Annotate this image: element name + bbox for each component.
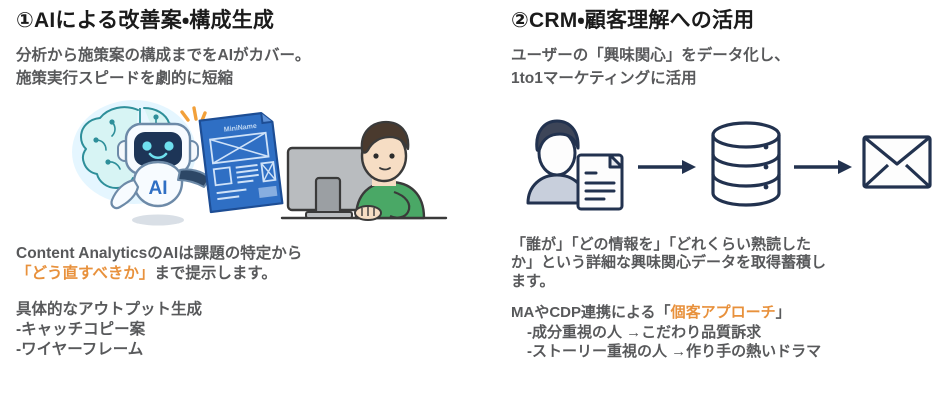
robot-shadow	[132, 215, 184, 226]
left-body-main-line-2: 「どう直すべきか」まで提示します。	[16, 264, 463, 284]
right-body-list-line-1: MAやCDP連携による「個客アプローチ」	[511, 303, 940, 323]
list-item: -成分重視の人 →こだわり品質訴求	[511, 323, 940, 343]
left-body-main-line-1: Content AnalyticsのAIは課題の特定から	[16, 244, 463, 264]
left-body-highlight: 「どう直すべきか」	[16, 265, 154, 282]
right-body-list-line-1-post: 」	[776, 304, 791, 321]
left-body-main-line-2-rest: まで提示します。	[154, 265, 276, 282]
column-right: ②CRM・顧客理解への活用 ユーザーの「興味関心」をデータ化し、 1to1マーケ…	[475, 0, 950, 416]
person-at-computer-icon	[282, 122, 446, 220]
robot-ai-label: AI	[149, 178, 168, 199]
person-document-icon	[528, 121, 622, 209]
right-body-highlight: 個客アプローチ	[671, 304, 776, 321]
arrow-right-icon	[638, 160, 696, 174]
column-left: ①AIによる改善案・構成生成 分析から施策案の構成までをAIがカバー。 施策実行…	[0, 0, 475, 416]
list-item: 具体的なアウトプット生成	[16, 300, 463, 320]
left-lead-paragraph: 分析から施策案の構成までをAIがカバー。 施策実行スピードを劇的に短縮	[16, 33, 463, 90]
wireframe-document-icon: MiniName	[200, 112, 283, 212]
list-item: -ワイヤーフレーム	[16, 340, 463, 360]
right-flow-diagram	[501, 112, 940, 222]
right-body-main: 「誰が」「どの情報を」「どれくらい熟読した か」という詳細な興味関心データを取得…	[501, 222, 940, 291]
left-lead-line-1: 分析から施策案の構成までをAIがカバー。	[16, 45, 463, 67]
right-body-main-line-1: 「誰が」「どの情報を」「どれくらい熟読した	[511, 236, 940, 254]
right-lead-paragraph: ユーザーの「興味関心」をデータ化し、 1to1マーケティングに活用	[501, 33, 940, 90]
database-icon	[713, 123, 779, 205]
envelope-icon	[864, 137, 930, 187]
slide-root: ①AIによる改善案・構成生成 分析から施策案の構成までをAIがカバー。 施策実行…	[0, 0, 950, 416]
right-lead-line-2: 1to1マーケティングに活用	[511, 68, 940, 90]
left-lead-line-2: 施策実行スピードを劇的に短縮	[16, 68, 463, 90]
right-body-main-line-2: か」という詳細な興味関心データを取得蓄積し	[511, 254, 940, 272]
right-lead-line-1: ユーザーの「興味関心」をデータ化し、	[511, 45, 940, 67]
right-body-list-line-1-pre: MAやCDP連携による「	[511, 304, 671, 321]
left-body-main: Content AnalyticsのAIは課題の特定から 「どう直すべきか」まで…	[16, 232, 463, 284]
right-body-list: MAやCDP連携による「個客アプローチ」 -成分重視の人 →こだわり品質訴求 -…	[501, 291, 940, 362]
left-heading: ①AIによる改善案・構成生成	[16, 0, 463, 33]
arrow-right-icon	[794, 160, 852, 174]
list-item: -ストーリー重視の人 →作り手の熱いドラマ	[511, 342, 940, 362]
flow-diagram-svg	[514, 115, 934, 219]
list-item: -キャッチコピー案	[16, 320, 463, 340]
left-body-list: 具体的なアウトプット生成 -キャッチコピー案 -ワイヤーフレーム	[16, 284, 463, 360]
left-illustration: AI MiniName	[16, 96, 463, 232]
left-illustration-svg: AI MiniName	[16, 96, 476, 232]
right-heading: ②CRM・顧客理解への活用	[501, 0, 940, 33]
right-body-main-line-3: ます。	[511, 273, 940, 291]
